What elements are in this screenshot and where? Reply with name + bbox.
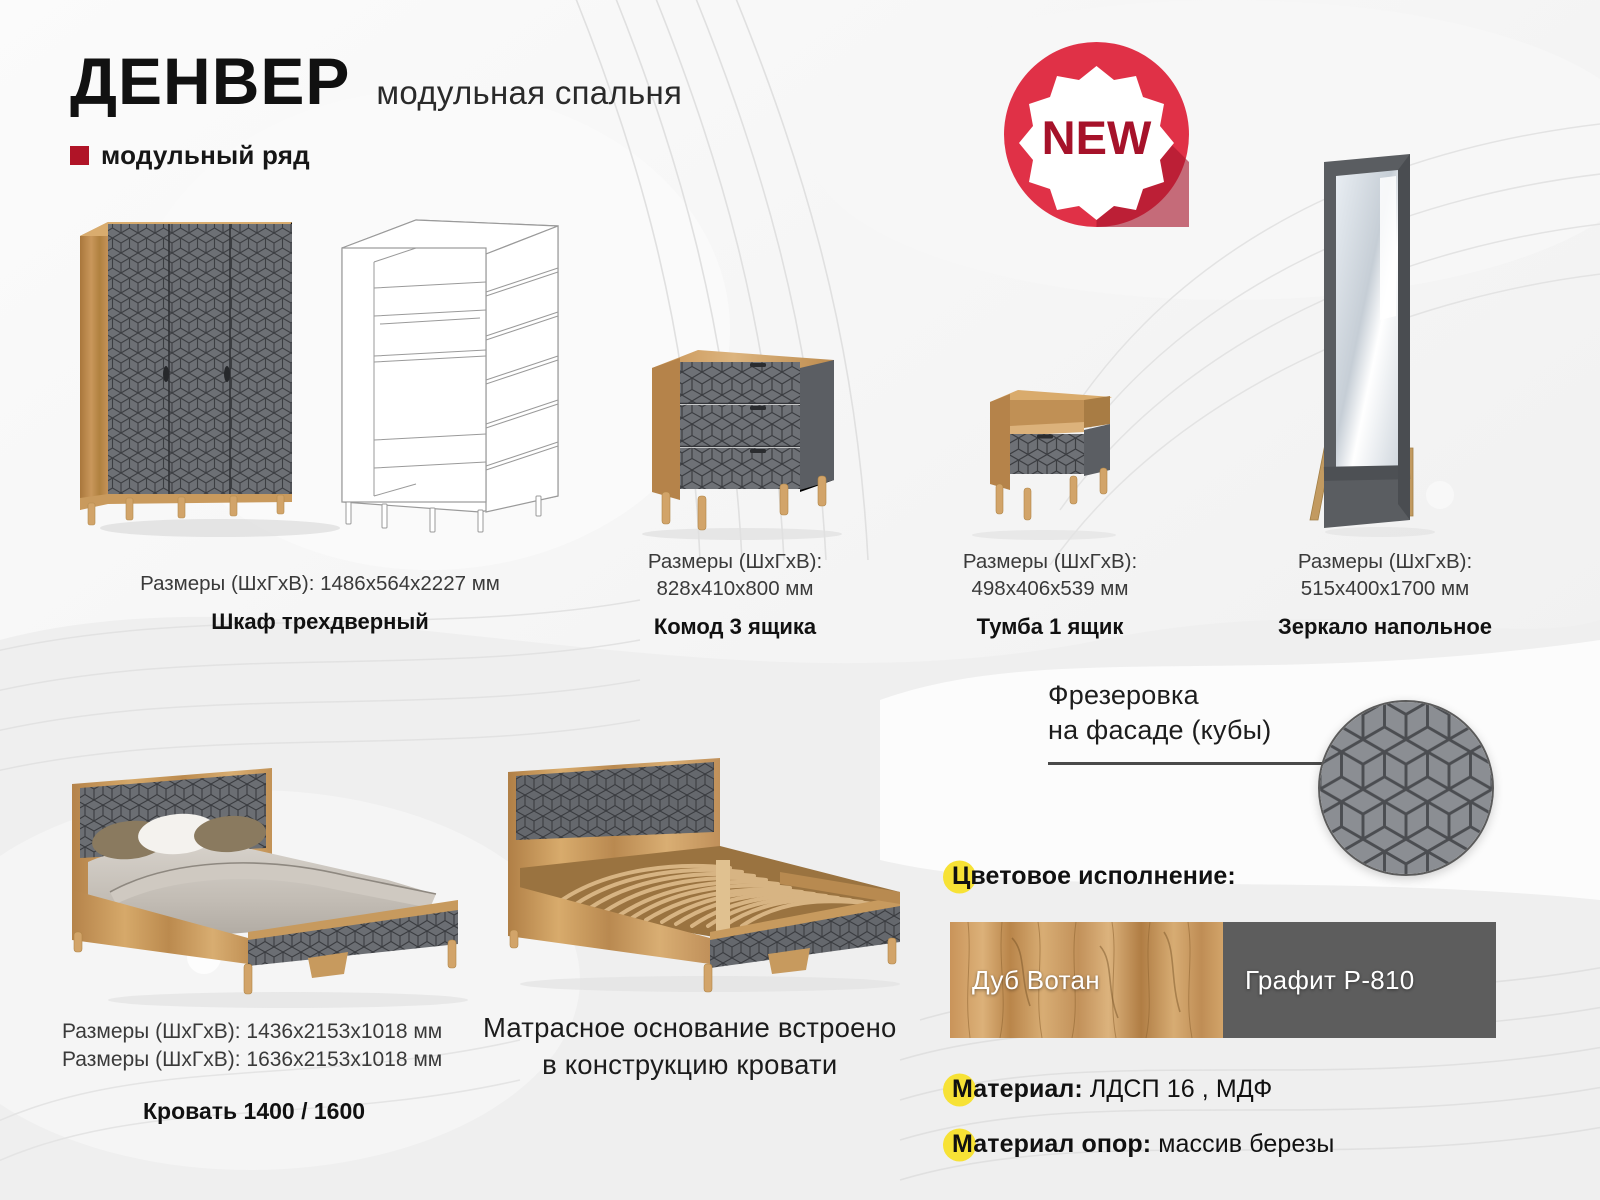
modular-row-label: модульный ряд bbox=[101, 140, 310, 171]
material-value: ЛДСП 16 , МДФ bbox=[1083, 1075, 1273, 1103]
caption-nightstand: Размеры (ШхГхВ): 498x406x539 мм Тумба 1 … bbox=[915, 548, 1185, 640]
mattress-note-line2: в конструкцию кровати bbox=[483, 1047, 896, 1084]
chest-name: Комод 3 ящика bbox=[600, 614, 870, 640]
bed-dimensions-1600: Размеры (ШхГхВ): 1636x2153x1018 мм bbox=[62, 1046, 442, 1074]
milling-detail-circle bbox=[1318, 700, 1494, 876]
new-badge: NEW bbox=[1004, 42, 1189, 227]
milling-line1: Фрезеровка bbox=[1048, 678, 1271, 713]
colors-heading: Цветовое исполнение: bbox=[952, 862, 1236, 891]
product-image-chest bbox=[622, 332, 852, 540]
swatch-oak-label: Дуб Вотан bbox=[950, 965, 1100, 996]
milling-text: Фрезеровка на фасаде (кубы) bbox=[1048, 678, 1271, 747]
product-diagram-wardrobe-interior bbox=[330, 196, 570, 541]
product-image-bed-frame bbox=[480, 732, 920, 994]
milling-underline bbox=[1048, 762, 1348, 765]
product-image-wardrobe bbox=[70, 198, 350, 538]
material-bold-rest: атериал: bbox=[973, 1075, 1083, 1103]
wardrobe-name: Шкаф трехдверный bbox=[60, 609, 580, 635]
material-line: Материал: ЛДСП 16 , МДФ bbox=[952, 1075, 1272, 1104]
nightstand-name: Тумба 1 ящик bbox=[915, 614, 1185, 640]
bed-dimensions-block: Размеры (ШхГхВ): 1436x2153x1018 мм Разме… bbox=[62, 1018, 442, 1073]
product-image-nightstand bbox=[952, 372, 1130, 540]
caption-mirror: Размеры (ШхГхВ): 515x400x1700 мм Зеркало… bbox=[1230, 548, 1540, 640]
material-legs-value: массив березы bbox=[1151, 1130, 1334, 1158]
red-square-icon bbox=[70, 146, 89, 165]
modular-row-tag: модульный ряд bbox=[70, 140, 682, 171]
nightstand-dimensions-line1: Размеры (ШхГхВ): bbox=[915, 548, 1185, 575]
colors-heading-first: Ц bbox=[952, 862, 970, 890]
material-legs-first: М bbox=[952, 1130, 973, 1158]
nightstand-dimensions-line2: 498x406x539 мм bbox=[915, 575, 1185, 602]
bed-dimensions-1400: Размеры (ШхГхВ): 1436x2153x1018 мм bbox=[62, 1018, 442, 1046]
title-row: ДЕНВЕР модульная спальня bbox=[70, 48, 682, 114]
swatch-graphite-label: Графит Р-810 bbox=[1223, 965, 1415, 996]
mirror-dimensions-line1: Размеры (ШхГхВ): bbox=[1230, 548, 1540, 575]
mattress-note: Матрасное основание встроено в конструкц… bbox=[483, 1010, 896, 1083]
material-legs-line: Материал опор: массив березы bbox=[952, 1130, 1334, 1159]
mirror-dimensions-line2: 515x400x1700 мм bbox=[1230, 575, 1540, 602]
colors-heading-rest: ветовое исполнение: bbox=[970, 862, 1235, 890]
swatch-oak: Дуб Вотан bbox=[950, 922, 1223, 1038]
milling-line2: на фасаде (кубы) bbox=[1048, 713, 1271, 748]
swatch-graphite: Графит Р-810 bbox=[1223, 922, 1496, 1038]
material-first: М bbox=[952, 1075, 973, 1103]
page-header: ДЕНВЕР модульная спальня модульный ряд bbox=[70, 48, 682, 171]
mirror-name: Зеркало напольное bbox=[1230, 614, 1540, 640]
page-subtitle: модульная спальня bbox=[376, 76, 682, 114]
material-legs-bold-rest: атериал опор: bbox=[973, 1130, 1151, 1158]
wardrobe-dimensions: Размеры (ШхГхВ): 1486x564x2227 мм bbox=[60, 570, 580, 597]
chest-dimensions-line2: 828x410x800 мм bbox=[600, 575, 870, 602]
caption-chest: Размеры (ШхГхВ): 828x410x800 мм Комод 3 … bbox=[600, 548, 870, 640]
bed-name: Кровать 1400 / 1600 bbox=[143, 1098, 365, 1125]
caption-wardrobe: Размеры (ШхГхВ): 1486x564x2227 мм Шкаф т… bbox=[60, 570, 580, 635]
product-image-mirror bbox=[1300, 148, 1460, 540]
chest-dimensions-line1: Размеры (ШхГхВ): bbox=[600, 548, 870, 575]
mattress-note-line1: Матрасное основание встроено bbox=[483, 1010, 896, 1047]
page-title: ДЕНВЕР bbox=[70, 48, 350, 114]
color-swatches: Дуб Вотан Графит Р-810 bbox=[950, 922, 1496, 1038]
new-badge-text: NEW bbox=[1042, 111, 1152, 164]
product-image-bed-made bbox=[58, 742, 478, 1010]
